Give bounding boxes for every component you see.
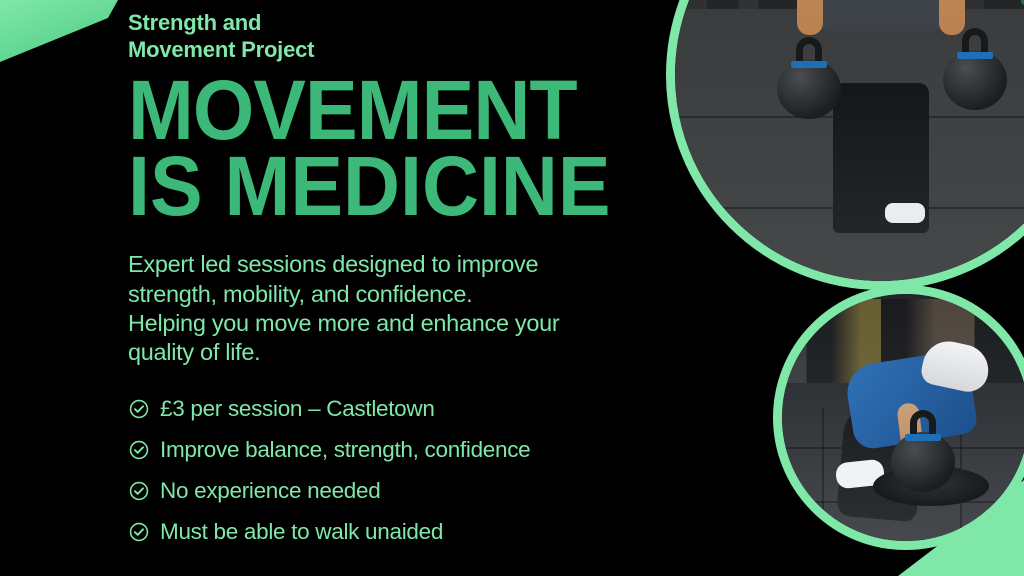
person-left-arm	[797, 0, 823, 35]
photo-mask-top	[675, 0, 1024, 281]
brand-name: Strength and Movement Project	[128, 10, 641, 63]
list-item-label: No experience needed	[160, 479, 380, 504]
gym-scene-deadlift	[782, 294, 1024, 541]
text-content: Strength and Movement Project MOVEMENT I…	[0, 0, 641, 553]
list-item-label: £3 per session – Castletown	[160, 397, 435, 422]
page-title: MOVEMENT IS MEDICINE	[128, 73, 611, 224]
gym-scene-carry	[675, 0, 1024, 281]
brand-line-1: Strength and	[128, 10, 641, 37]
headline-line-1: MOVEMENT	[128, 73, 611, 149]
description-line-1: Expert led sessions designed to improve	[128, 250, 641, 279]
list-item-label: Improve balance, strength, confidence	[160, 438, 530, 463]
description-line-2: strength, mobility, and confidence.	[128, 280, 641, 309]
check-circle-icon	[128, 398, 160, 420]
person-shoe	[885, 203, 925, 223]
headline-line-2: IS MEDICINE	[128, 149, 611, 225]
person-right-arm	[939, 0, 965, 35]
gym-senior-woman-kettlebell-deadlift-photo	[773, 285, 1024, 550]
list-item: Must be able to walk unaided	[128, 512, 641, 553]
kettlebell-left	[777, 59, 841, 119]
description-line-4: quality of life.	[128, 338, 641, 367]
check-circle-icon	[128, 521, 160, 543]
benefits-list: £3 per session – Castletown Improve bala…	[128, 389, 641, 553]
list-item: No experience needed	[128, 471, 641, 512]
description-paragraph: Expert led sessions designed to improve …	[128, 250, 641, 367]
description-line-3: Helping you move more and enhance your	[128, 309, 641, 338]
list-item: Improve balance, strength, confidence	[128, 430, 641, 471]
check-circle-icon	[128, 480, 160, 502]
person-torso	[822, 0, 940, 32]
kettlebell-center	[891, 432, 955, 492]
list-item: £3 per session – Castletown	[128, 389, 641, 430]
kettlebell-right	[943, 50, 1007, 110]
list-item-label: Must be able to walk unaided	[160, 520, 443, 545]
brand-line-2: Movement Project	[128, 37, 641, 64]
promotional-poster: Strength and Movement Project MOVEMENT I…	[0, 0, 1024, 576]
photo-mask-bottom	[782, 294, 1024, 541]
check-circle-icon	[128, 439, 160, 461]
gym-farmers-carry-kettlebells-photo	[666, 0, 1024, 290]
